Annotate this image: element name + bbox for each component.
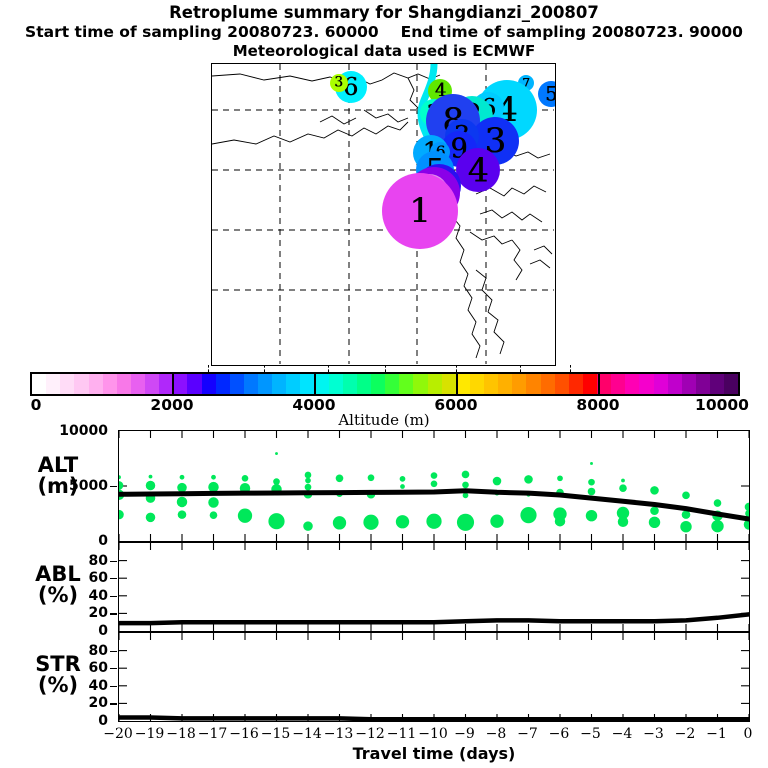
alt-scatter-point bbox=[180, 475, 185, 480]
abl-panel[interactable] bbox=[118, 542, 750, 632]
x-tick-label: −18 bbox=[166, 726, 196, 742]
alt-scatter-point bbox=[588, 479, 595, 486]
colorbar-swatch bbox=[526, 374, 540, 394]
start-time-label: Start time of sampling 20080723. 60000 bbox=[25, 23, 379, 41]
x-tick-label: −5 bbox=[580, 726, 601, 742]
alt-scatter-point bbox=[119, 510, 124, 520]
alt-scatter-point bbox=[520, 507, 536, 523]
colorbar-separator bbox=[172, 372, 174, 396]
y-tick-label: 0 bbox=[48, 713, 108, 729]
abl-plot-graphics bbox=[119, 543, 749, 631]
mean-line bbox=[119, 614, 749, 623]
colorbar-swatch bbox=[555, 374, 569, 394]
x-tick-label: 0 bbox=[744, 726, 753, 742]
alt-scatter-point bbox=[211, 475, 216, 480]
x-tick-label: −20 bbox=[103, 726, 133, 742]
colorbar-separator bbox=[456, 372, 458, 396]
colorbar-swatch bbox=[442, 374, 456, 394]
header-block: Retroplume summary for Shangdianzi_20080… bbox=[0, 0, 768, 60]
colorbar-swatch bbox=[60, 374, 74, 394]
x-tick-label: −2 bbox=[675, 726, 696, 742]
colorbar-swatch bbox=[272, 374, 286, 394]
colorbar-swatch bbox=[654, 374, 668, 394]
alt-scatter-point bbox=[396, 515, 409, 528]
alt-scatter-point bbox=[557, 475, 563, 481]
alt-scatter-point bbox=[431, 472, 438, 479]
colorbar-separator bbox=[314, 372, 316, 396]
colorbar-swatch bbox=[315, 374, 329, 394]
altitude-colorbar[interactable] bbox=[30, 372, 740, 396]
sampling-time-line: Start time of sampling 20080723. 60000En… bbox=[0, 23, 768, 41]
colorbar-swatch bbox=[145, 374, 159, 394]
colorbar-gradient bbox=[30, 372, 740, 396]
colorbar-tick bbox=[208, 365, 210, 372]
colorbar-swatch bbox=[202, 374, 216, 394]
alt-scatter-point bbox=[400, 484, 405, 489]
colorbar-swatch bbox=[639, 374, 653, 394]
colorbar-swatch bbox=[569, 374, 583, 394]
alt-scatter-point bbox=[208, 497, 218, 507]
alt-scatter-point bbox=[177, 497, 187, 507]
x-tick-label: −10 bbox=[418, 726, 448, 742]
colorbar-swatch bbox=[74, 374, 88, 394]
y-tick-mark bbox=[110, 613, 117, 614]
alt-scatter-point bbox=[618, 517, 628, 527]
colorbar-swatch bbox=[611, 374, 625, 394]
map-marker-label: 5 bbox=[545, 84, 556, 104]
alt-label-name: ALT bbox=[4, 455, 112, 476]
alt-scatter-point bbox=[119, 475, 121, 479]
x-tick-label: −8 bbox=[486, 726, 507, 742]
y-tick-mark bbox=[110, 561, 117, 562]
mean-line bbox=[119, 718, 749, 720]
alt-scatter-point bbox=[588, 488, 596, 496]
y-tick-label: 60 bbox=[48, 570, 108, 586]
x-tick-label: −12 bbox=[355, 726, 385, 742]
x-tick-label: −14 bbox=[292, 726, 322, 742]
colorbar-tick bbox=[328, 365, 330, 372]
alt-panel[interactable] bbox=[118, 430, 750, 542]
retroplume-map[interactable]: 6375446221833916451071 bbox=[211, 63, 556, 366]
colorbar-swatch bbox=[541, 374, 555, 394]
alt-scatter-point bbox=[305, 478, 311, 484]
x-tick-label: −19 bbox=[135, 726, 165, 742]
y-tick-mark bbox=[110, 596, 117, 597]
alt-scatter-point bbox=[275, 452, 278, 455]
colorbar-swatch bbox=[216, 374, 230, 394]
colorbar-swatch bbox=[710, 374, 724, 394]
x-tick-label: −11 bbox=[387, 726, 417, 742]
y-tick-label: 5000 bbox=[48, 478, 108, 494]
alt-scatter-point bbox=[149, 475, 153, 479]
alt-scatter-point bbox=[682, 492, 690, 500]
met-data-label: Meteorological data used is ECMWF bbox=[0, 42, 768, 60]
x-tick-label: −4 bbox=[612, 726, 633, 742]
colorbar-swatch bbox=[428, 374, 442, 394]
colorbar-swatch bbox=[696, 374, 710, 394]
alt-scatter-point bbox=[462, 482, 469, 489]
y-tick-mark bbox=[110, 578, 117, 579]
colorbar-swatch bbox=[498, 374, 512, 394]
alt-scatter-point bbox=[524, 475, 533, 484]
alt-scatter-point bbox=[305, 484, 312, 491]
x-tick-label: −1 bbox=[706, 726, 727, 742]
alt-scatter-point bbox=[242, 475, 249, 482]
colorbar-swatch bbox=[89, 374, 103, 394]
colorbar-swatch bbox=[131, 374, 145, 394]
y-tick-label: 0 bbox=[48, 533, 108, 549]
alt-scatter-point bbox=[119, 481, 123, 490]
colorbar-separator bbox=[598, 372, 600, 396]
y-tick-mark bbox=[110, 486, 117, 487]
y-tick-label: 60 bbox=[48, 660, 108, 676]
colorbar-title: Altitude (m) bbox=[0, 411, 768, 429]
alt-scatter-point bbox=[711, 520, 723, 532]
colorbar-tick bbox=[456, 365, 458, 372]
x-tick-label: −17 bbox=[198, 726, 228, 742]
colorbar-swatch bbox=[583, 374, 597, 394]
alt-scatter-point bbox=[462, 471, 470, 479]
colorbar-tick bbox=[385, 365, 387, 372]
x-tick-label: −15 bbox=[261, 726, 291, 742]
y-tick-mark bbox=[110, 703, 117, 704]
y-tick-label: 80 bbox=[48, 643, 108, 659]
alt-scatter-point bbox=[621, 479, 625, 483]
alt-scatter-point bbox=[590, 462, 593, 465]
alt-scatter-point bbox=[490, 515, 503, 528]
alt-scatter-point bbox=[555, 516, 565, 526]
colorbar-swatch bbox=[244, 374, 258, 394]
x-tick-label: −7 bbox=[517, 726, 538, 742]
alt-scatter-point bbox=[268, 513, 284, 529]
y-tick-mark bbox=[110, 651, 117, 652]
colorbar-swatch bbox=[399, 374, 413, 394]
alt-scatter-point bbox=[336, 474, 344, 482]
colorbar-swatch bbox=[724, 374, 738, 394]
colorbar-tick bbox=[520, 365, 522, 372]
colorbar-swatch bbox=[173, 374, 187, 394]
alt-scatter-point bbox=[586, 510, 597, 521]
colorbar-swatch bbox=[286, 374, 300, 394]
map-marker-label: 4 bbox=[468, 153, 489, 186]
colorbar-swatch bbox=[484, 374, 498, 394]
alt-scatter-point bbox=[650, 506, 659, 515]
colorbar-swatch bbox=[385, 374, 399, 394]
colorbar-swatch bbox=[187, 374, 201, 394]
alt-scatter-point bbox=[305, 472, 312, 479]
colorbar-tick bbox=[264, 365, 266, 372]
x-tick-label: −3 bbox=[643, 726, 664, 742]
alt-plot-graphics bbox=[119, 431, 749, 541]
alt-scatter-point bbox=[146, 513, 156, 523]
alt-scatter-point bbox=[333, 516, 346, 529]
colorbar-swatch bbox=[300, 374, 314, 394]
end-time-label: End time of sampling 20080723. 90000 bbox=[401, 23, 743, 41]
x-tick-label: −9 bbox=[454, 726, 475, 742]
alt-scatter-point bbox=[680, 521, 691, 532]
alt-scatter-point bbox=[177, 483, 187, 493]
map-marker-label: 1 bbox=[409, 194, 431, 228]
colorbar-swatch bbox=[371, 374, 385, 394]
colorbar-swatch bbox=[357, 374, 371, 394]
colorbar-swatch bbox=[258, 374, 272, 394]
page-title: Retroplume summary for Shangdianzi_20080… bbox=[0, 3, 768, 22]
alt-scatter-point bbox=[178, 510, 187, 519]
colorbar-swatch bbox=[46, 374, 60, 394]
alt-scatter-point bbox=[368, 474, 375, 481]
y-tick-label: 0 bbox=[48, 623, 108, 639]
colorbar-swatch bbox=[230, 374, 244, 394]
alt-scatter-point bbox=[210, 511, 218, 519]
x-tick-label: −13 bbox=[324, 726, 354, 742]
colorbar-swatch bbox=[682, 374, 696, 394]
y-tick-label: 10000 bbox=[48, 423, 108, 439]
alt-scatter-point bbox=[363, 515, 378, 530]
alt-scatter-point bbox=[650, 486, 659, 495]
alt-scatter-point bbox=[273, 478, 280, 485]
map-marker-label: 3 bbox=[334, 76, 343, 90]
y-tick-mark bbox=[110, 686, 117, 687]
y-tick-label: 20 bbox=[48, 605, 108, 621]
x-tick-label: −6 bbox=[549, 726, 570, 742]
colorbar-swatch bbox=[32, 374, 46, 394]
y-tick-label: 40 bbox=[48, 588, 108, 604]
colorbar-tick bbox=[570, 365, 572, 372]
alt-scatter-point bbox=[146, 481, 156, 491]
alt-scatter-point bbox=[238, 509, 252, 523]
str-panel[interactable] bbox=[118, 632, 750, 722]
str-plot-graphics bbox=[119, 633, 749, 721]
alt-scatter-point bbox=[493, 477, 502, 486]
colorbar-swatch bbox=[343, 374, 357, 394]
colorbar-swatch bbox=[512, 374, 526, 394]
alt-scatter-point bbox=[619, 484, 627, 492]
x-axis-title: Travel time (days) bbox=[118, 744, 750, 763]
y-tick-mark bbox=[110, 668, 117, 669]
colorbar-swatch bbox=[117, 374, 131, 394]
x-tick-label: −16 bbox=[229, 726, 259, 742]
alt-scatter-point bbox=[649, 517, 660, 528]
colorbar-swatch bbox=[625, 374, 639, 394]
alt-scatter-point bbox=[714, 499, 722, 507]
colorbar-swatch bbox=[329, 374, 343, 394]
colorbar-swatch bbox=[413, 374, 427, 394]
alt-scatter-point bbox=[400, 476, 406, 482]
alt-scatter-point bbox=[457, 514, 474, 531]
alt-scatter-point bbox=[208, 482, 218, 492]
y-tick-label: 80 bbox=[48, 553, 108, 569]
y-tick-label: 40 bbox=[48, 678, 108, 694]
colorbar-swatch bbox=[470, 374, 484, 394]
alt-scatter-point bbox=[426, 514, 441, 529]
alt-scatter-point bbox=[431, 480, 438, 487]
colorbar-swatch bbox=[103, 374, 117, 394]
colorbar-swatch bbox=[668, 374, 682, 394]
alt-scatter-point bbox=[303, 521, 313, 531]
y-tick-label: 20 bbox=[48, 695, 108, 711]
